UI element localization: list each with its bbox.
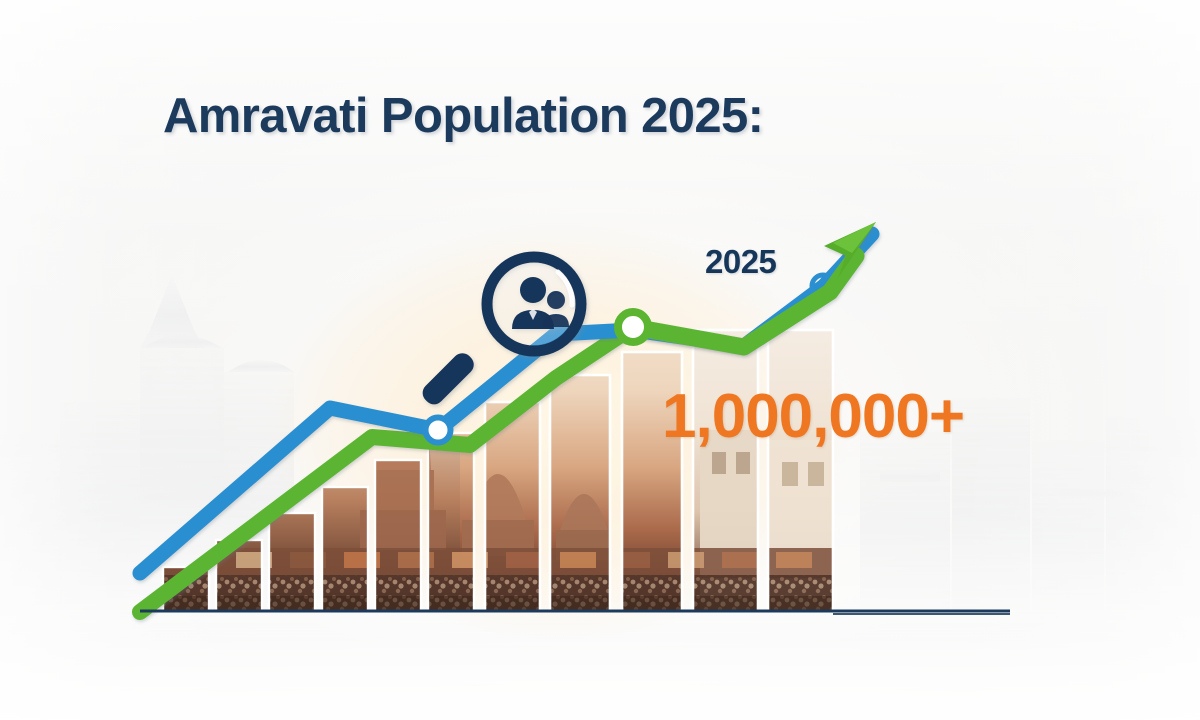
green-data-point-marker [618, 312, 648, 342]
page-title: Amravati Population 2025: [163, 88, 763, 144]
blue-data-point-marker [426, 418, 451, 443]
infographic-canvas: Amravati Population 2025: 2025 1,000,000… [0, 0, 1200, 720]
population-stat-value: 1,000,000+ [662, 381, 964, 452]
year-annotation-2025: 2025 [705, 243, 776, 281]
